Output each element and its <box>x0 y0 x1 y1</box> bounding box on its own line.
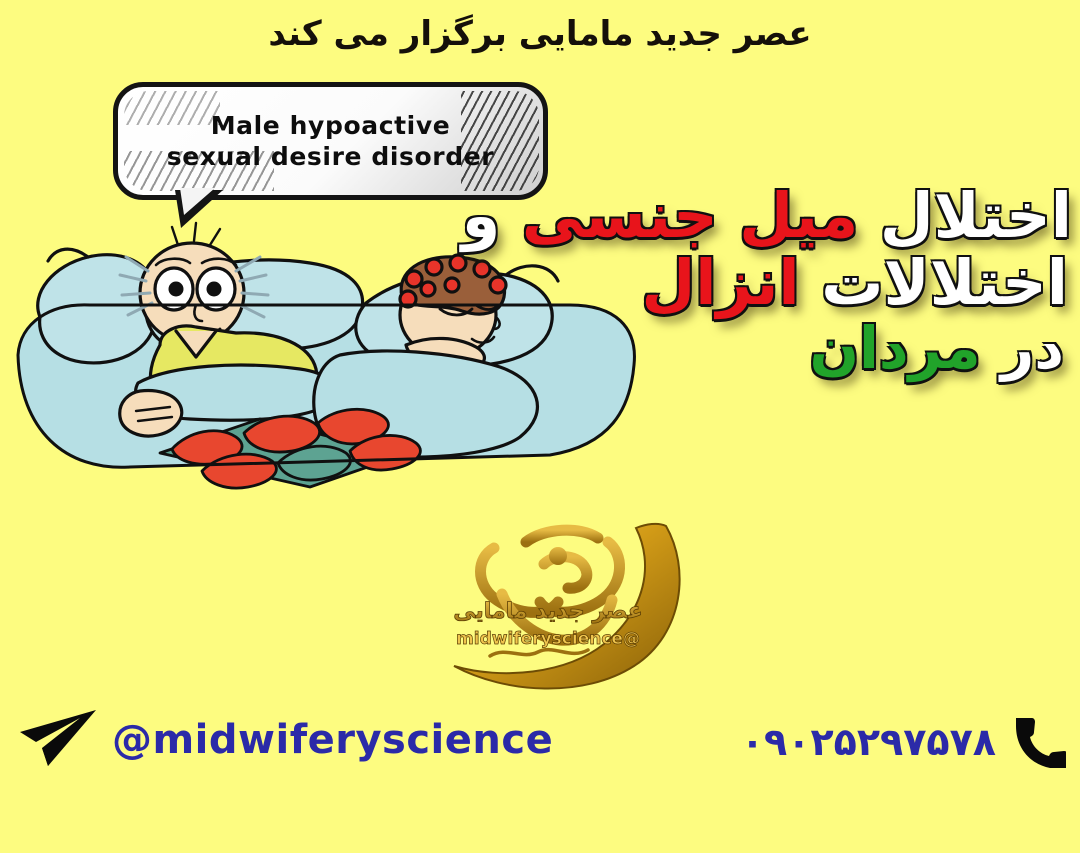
phone-contact[interactable]: ۰۹۰۲۵۲۹۷۵۷۸ <box>741 712 1066 772</box>
headline-word-ekhtelalat: اختلالات <box>821 246 1068 319</box>
headline-word-ekhtelal: اختلال <box>880 179 1072 252</box>
telegram-handle-text[interactable]: @midwiferyscience <box>112 717 553 763</box>
headline-word-meyl-jensi: میل جنسی <box>522 179 858 252</box>
headline-word-dar: در <box>1001 314 1064 382</box>
logo-brand-text-fa: عصر جدید مامایی <box>453 599 643 624</box>
headline-line-3: در مردان <box>452 320 1072 377</box>
speech-bubble: Male hypoactive sexual desire disorder <box>113 82 548 200</box>
speech-bubble-text: Male hypoactive sexual desire disorder <box>113 82 548 200</box>
logo-handle-text: @midwiferyscience <box>456 629 640 649</box>
telegram-paper-plane-icon[interactable] <box>18 708 100 772</box>
footer: @midwiferyscience ۰۹۰۲۵۲۹۷۵۷۸ <box>0 700 1080 795</box>
headline-word-mardan: مردان <box>810 314 981 382</box>
speech-bubble-line-1: Male hypoactive <box>211 110 451 142</box>
poster-canvas: عصر جدید مامایی برگزار می کند Male hypoa… <box>0 0 1080 853</box>
headline-line-2: اختلالات انزال <box>452 253 1072 314</box>
speech-bubble-line-2: sexual desire disorder <box>167 141 494 173</box>
header-announcement: عصر جدید مامایی برگزار می کند <box>0 14 1080 54</box>
phone-handset-icon[interactable] <box>1010 712 1066 772</box>
telegram-contact[interactable]: @midwiferyscience <box>18 708 553 772</box>
headline: اختلال میل جنسی و اختلالات انزال در مردا… <box>452 186 1072 382</box>
brand-logo: عصر جدید مامایی @midwiferyscience <box>398 498 698 703</box>
phone-number-text[interactable]: ۰۹۰۲۵۲۹۷۵۷۸ <box>741 720 996 764</box>
headline-word-enzal: انزال <box>641 246 799 319</box>
